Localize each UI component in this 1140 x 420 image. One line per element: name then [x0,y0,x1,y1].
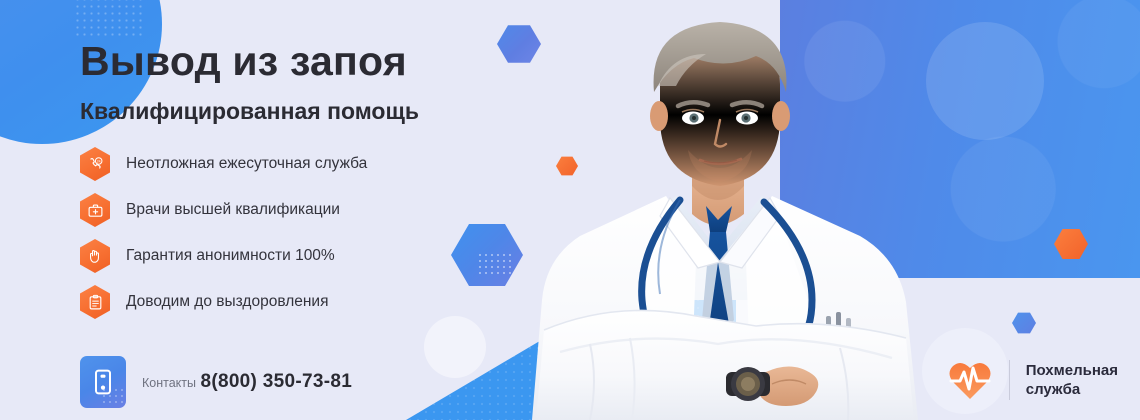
feature-item: Гарантия анонимности 100% [80,234,367,278]
feature-label: Гарантия анонимности 100% [126,247,335,265]
anonymity-hand-icon [80,239,110,273]
logo-divider [1009,360,1010,400]
brand-logo[interactable]: Похмельная служба [947,358,1118,402]
logo-text-line1: Похмельная [1026,361,1118,380]
decorative-hexagon-orange-large [1054,228,1088,260]
mobile-phone-icon [80,356,126,408]
feature-list: 24 Неотложная ежесуточная служба Врачи в… [80,142,367,326]
promo-banner: Вывод из запоя Квалифицированная помощь … [0,0,1140,420]
feature-label: Врачи высшей квалификации [126,201,340,219]
contacts-phone[interactable]: 8(800) 350-73-81 [200,371,352,392]
doctor-photo [520,0,950,420]
feature-item: Врачи высшей квалификации [80,188,367,232]
phone-24h-icon: 24 [80,147,110,181]
heart-pulse-icon [947,358,993,402]
content-column: Вывод из запоя Квалифицированная помощь … [0,0,560,420]
clipboard-checklist-icon [80,285,110,319]
contacts-block[interactable]: Контакты 8(800) 350-73-81 [80,356,352,408]
decorative-hexagon-blue-small [1012,312,1036,334]
feature-label: Неотложная ежесуточная служба [126,155,367,173]
logo-text-line2: служба [1026,380,1118,399]
page-subtitle: Квалифицированная помощь [80,98,419,125]
contacts-label: Контакты [142,376,196,390]
feature-item: 24 Неотложная ежесуточная служба [80,142,367,186]
medical-briefcase-icon [80,193,110,227]
svg-text:24: 24 [96,159,100,163]
feature-item: Доводим до выздоровления [80,280,367,324]
page-title: Вывод из запоя [80,38,407,85]
feature-label: Доводим до выздоровления [126,293,328,311]
